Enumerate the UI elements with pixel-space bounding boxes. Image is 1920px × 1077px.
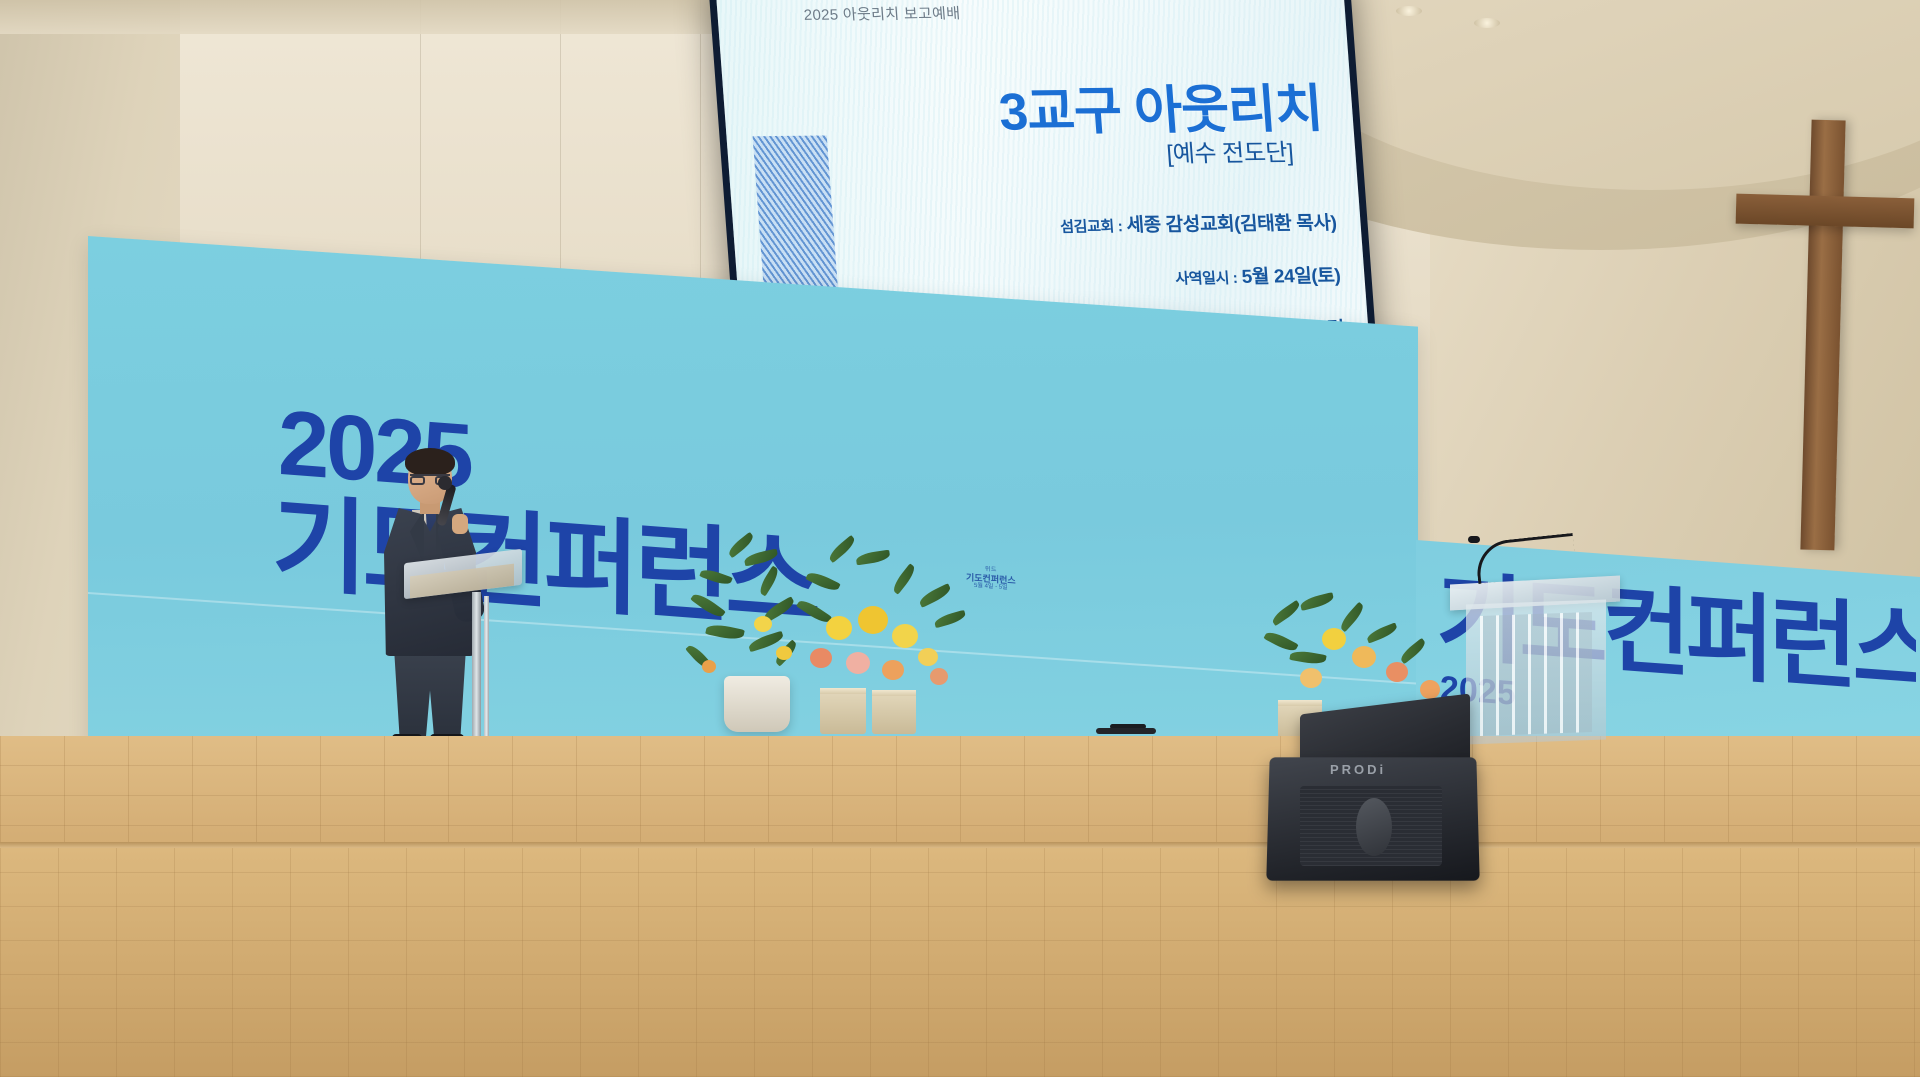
banner-center-logo: 위드 기도컨퍼런스 5월 4일 - 5일 [966, 565, 1016, 593]
microphone-head-icon [438, 476, 452, 490]
ceiling-light-icon [1396, 6, 1422, 16]
slide-detail-row: 섬김교회 : 세종 감성교회(김태환 목사) [1059, 208, 1337, 238]
microphone-capsule-icon [1468, 536, 1480, 543]
detail-label-1: 사역일시 : [1175, 270, 1238, 288]
speaker-hand [452, 514, 468, 534]
slide-detail-row: 사역일시 : 5월 24일(토) [1063, 261, 1341, 291]
lectern-right-ribs [1480, 612, 1592, 736]
speaker-driver-icon [1356, 798, 1392, 856]
lectern-left [404, 556, 524, 746]
slide-eyebrow: 2025 아웃리치 보고예배 [803, 2, 961, 25]
speaker-brand-label: PRODi [1330, 762, 1386, 777]
lectern-stem-secondary [484, 596, 489, 738]
speaker-hair [405, 448, 455, 476]
ceiling-light-icon [1474, 18, 1500, 28]
stage-scene: 2025 아웃리치 보고예배 3교구 아웃리치 [예수 전도단] 섬김교회 : … [0, 0, 1920, 1077]
slide-subtitle: [예수 전도단] [1165, 133, 1294, 169]
detail-label-0: 섬김교회 : [1060, 218, 1123, 236]
lectern-stem [472, 592, 481, 740]
stage-front-face [0, 848, 1920, 1077]
detail-value-1: 5월 24일(토) [1241, 266, 1341, 288]
detail-value-0: 세종 감성교회(김태환 목사) [1126, 213, 1337, 236]
audio-cable [1096, 728, 1156, 734]
lectern-right [1450, 580, 1630, 760]
stage-floor [0, 736, 1920, 856]
wooden-cross-horizontal [1736, 194, 1915, 229]
